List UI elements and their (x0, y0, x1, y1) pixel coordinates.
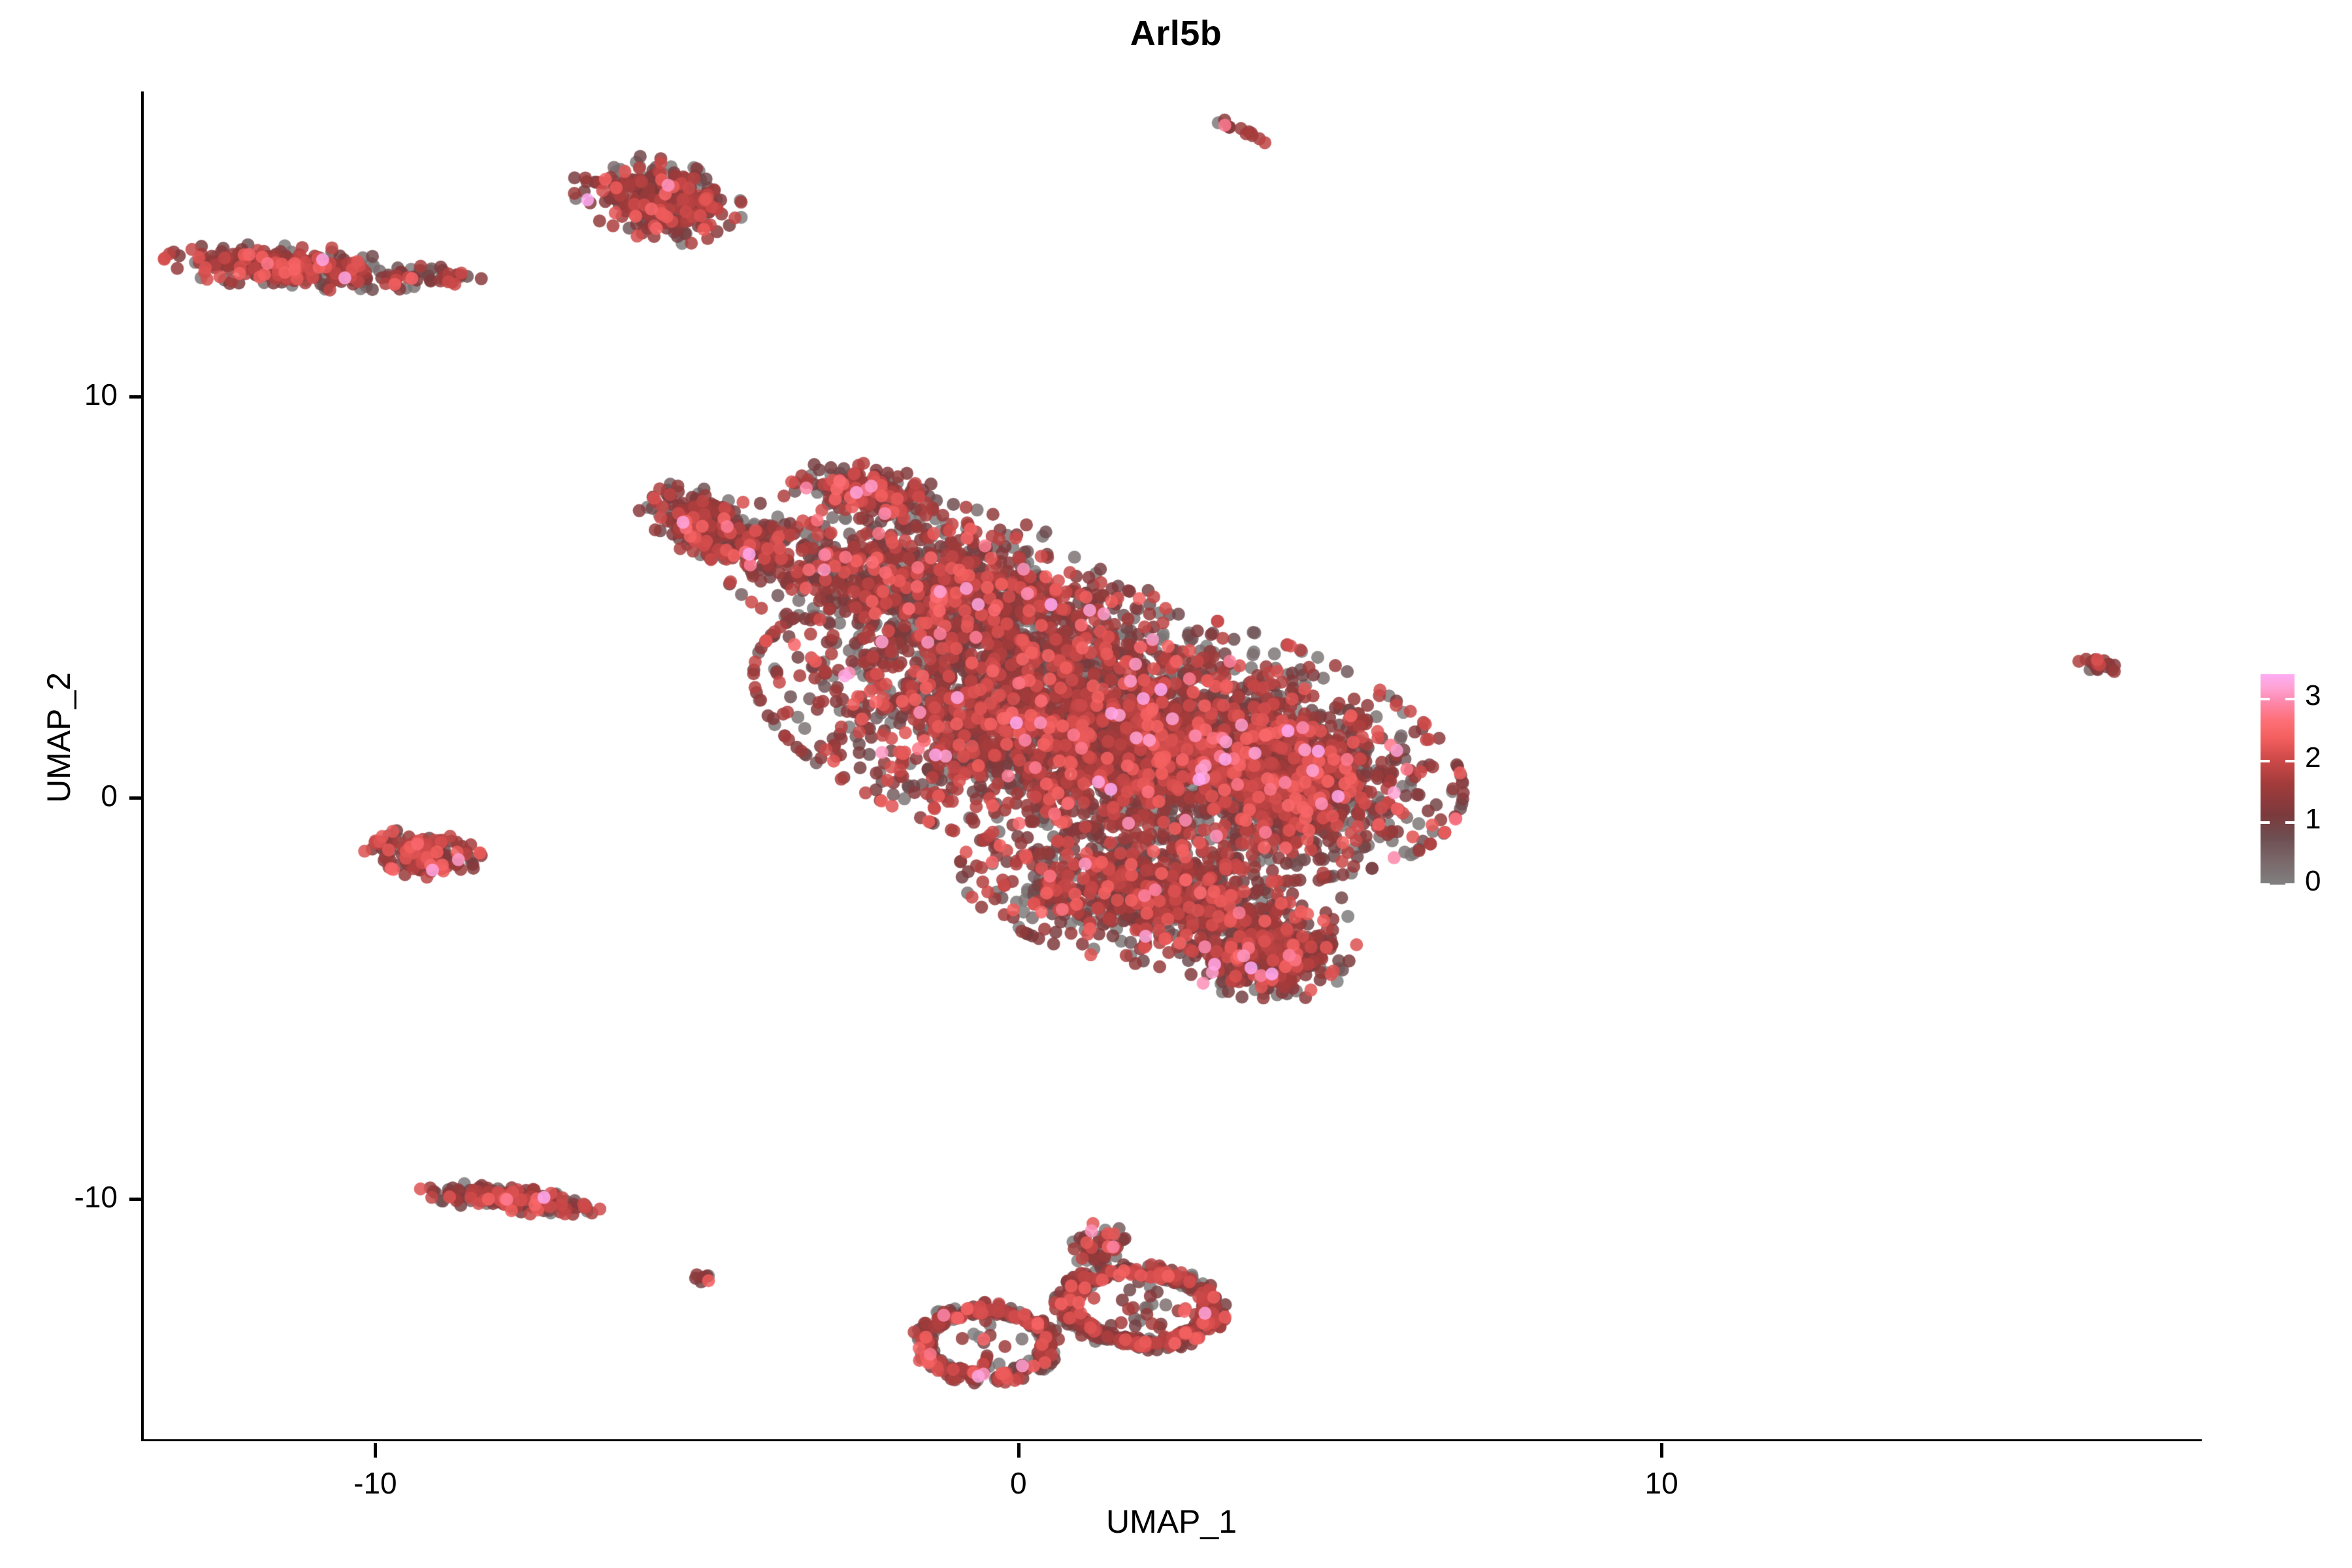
feature-plot-root: Arl5b -10010 -10010 UMAP_1 UMAP_2 0123 (0, 0, 2352, 1568)
y-tick-label: 10 (0, 377, 118, 412)
colorbar-gradient (2261, 674, 2295, 885)
colorbar-tick-mark (2261, 760, 2270, 762)
colorbar-tick-mark (2261, 698, 2270, 700)
colorbar-tick-mark (2261, 821, 2270, 824)
colorbar-tick-label: 3 (2305, 679, 2321, 712)
colorbar-legend: 0123 (2234, 660, 2345, 915)
colorbar-tick-mark (2285, 883, 2295, 886)
colorbar-tick-mark (2285, 821, 2295, 824)
colorbar-tick-label: 0 (2305, 865, 2321, 898)
colorbar-tick-label: 1 (2305, 803, 2321, 836)
page-title: Arl5b (0, 13, 2352, 54)
x-tick-mark (1660, 1443, 1663, 1458)
colorbar-tick-label: 2 (2305, 742, 2321, 774)
y-axis-title: UMAP_2 (40, 509, 78, 966)
colorbar-tick-mark (2285, 698, 2295, 700)
y-tick-mark (129, 1198, 144, 1201)
scatter-points-canvas (144, 91, 2202, 1439)
x-tick-mark (374, 1443, 377, 1458)
colorbar-tick-mark (2285, 760, 2295, 762)
x-tick-label: 0 (940, 1465, 1097, 1501)
y-tick-label: -10 (0, 1179, 118, 1215)
y-tick-mark (129, 395, 144, 399)
x-tick-label: -10 (297, 1465, 453, 1501)
x-axis-title: UMAP_1 (141, 1503, 2202, 1541)
y-tick-mark (129, 796, 144, 800)
x-tick-mark (1017, 1443, 1021, 1458)
colorbar-tick-mark (2261, 883, 2270, 886)
x-tick-label: 10 (1583, 1465, 1740, 1501)
